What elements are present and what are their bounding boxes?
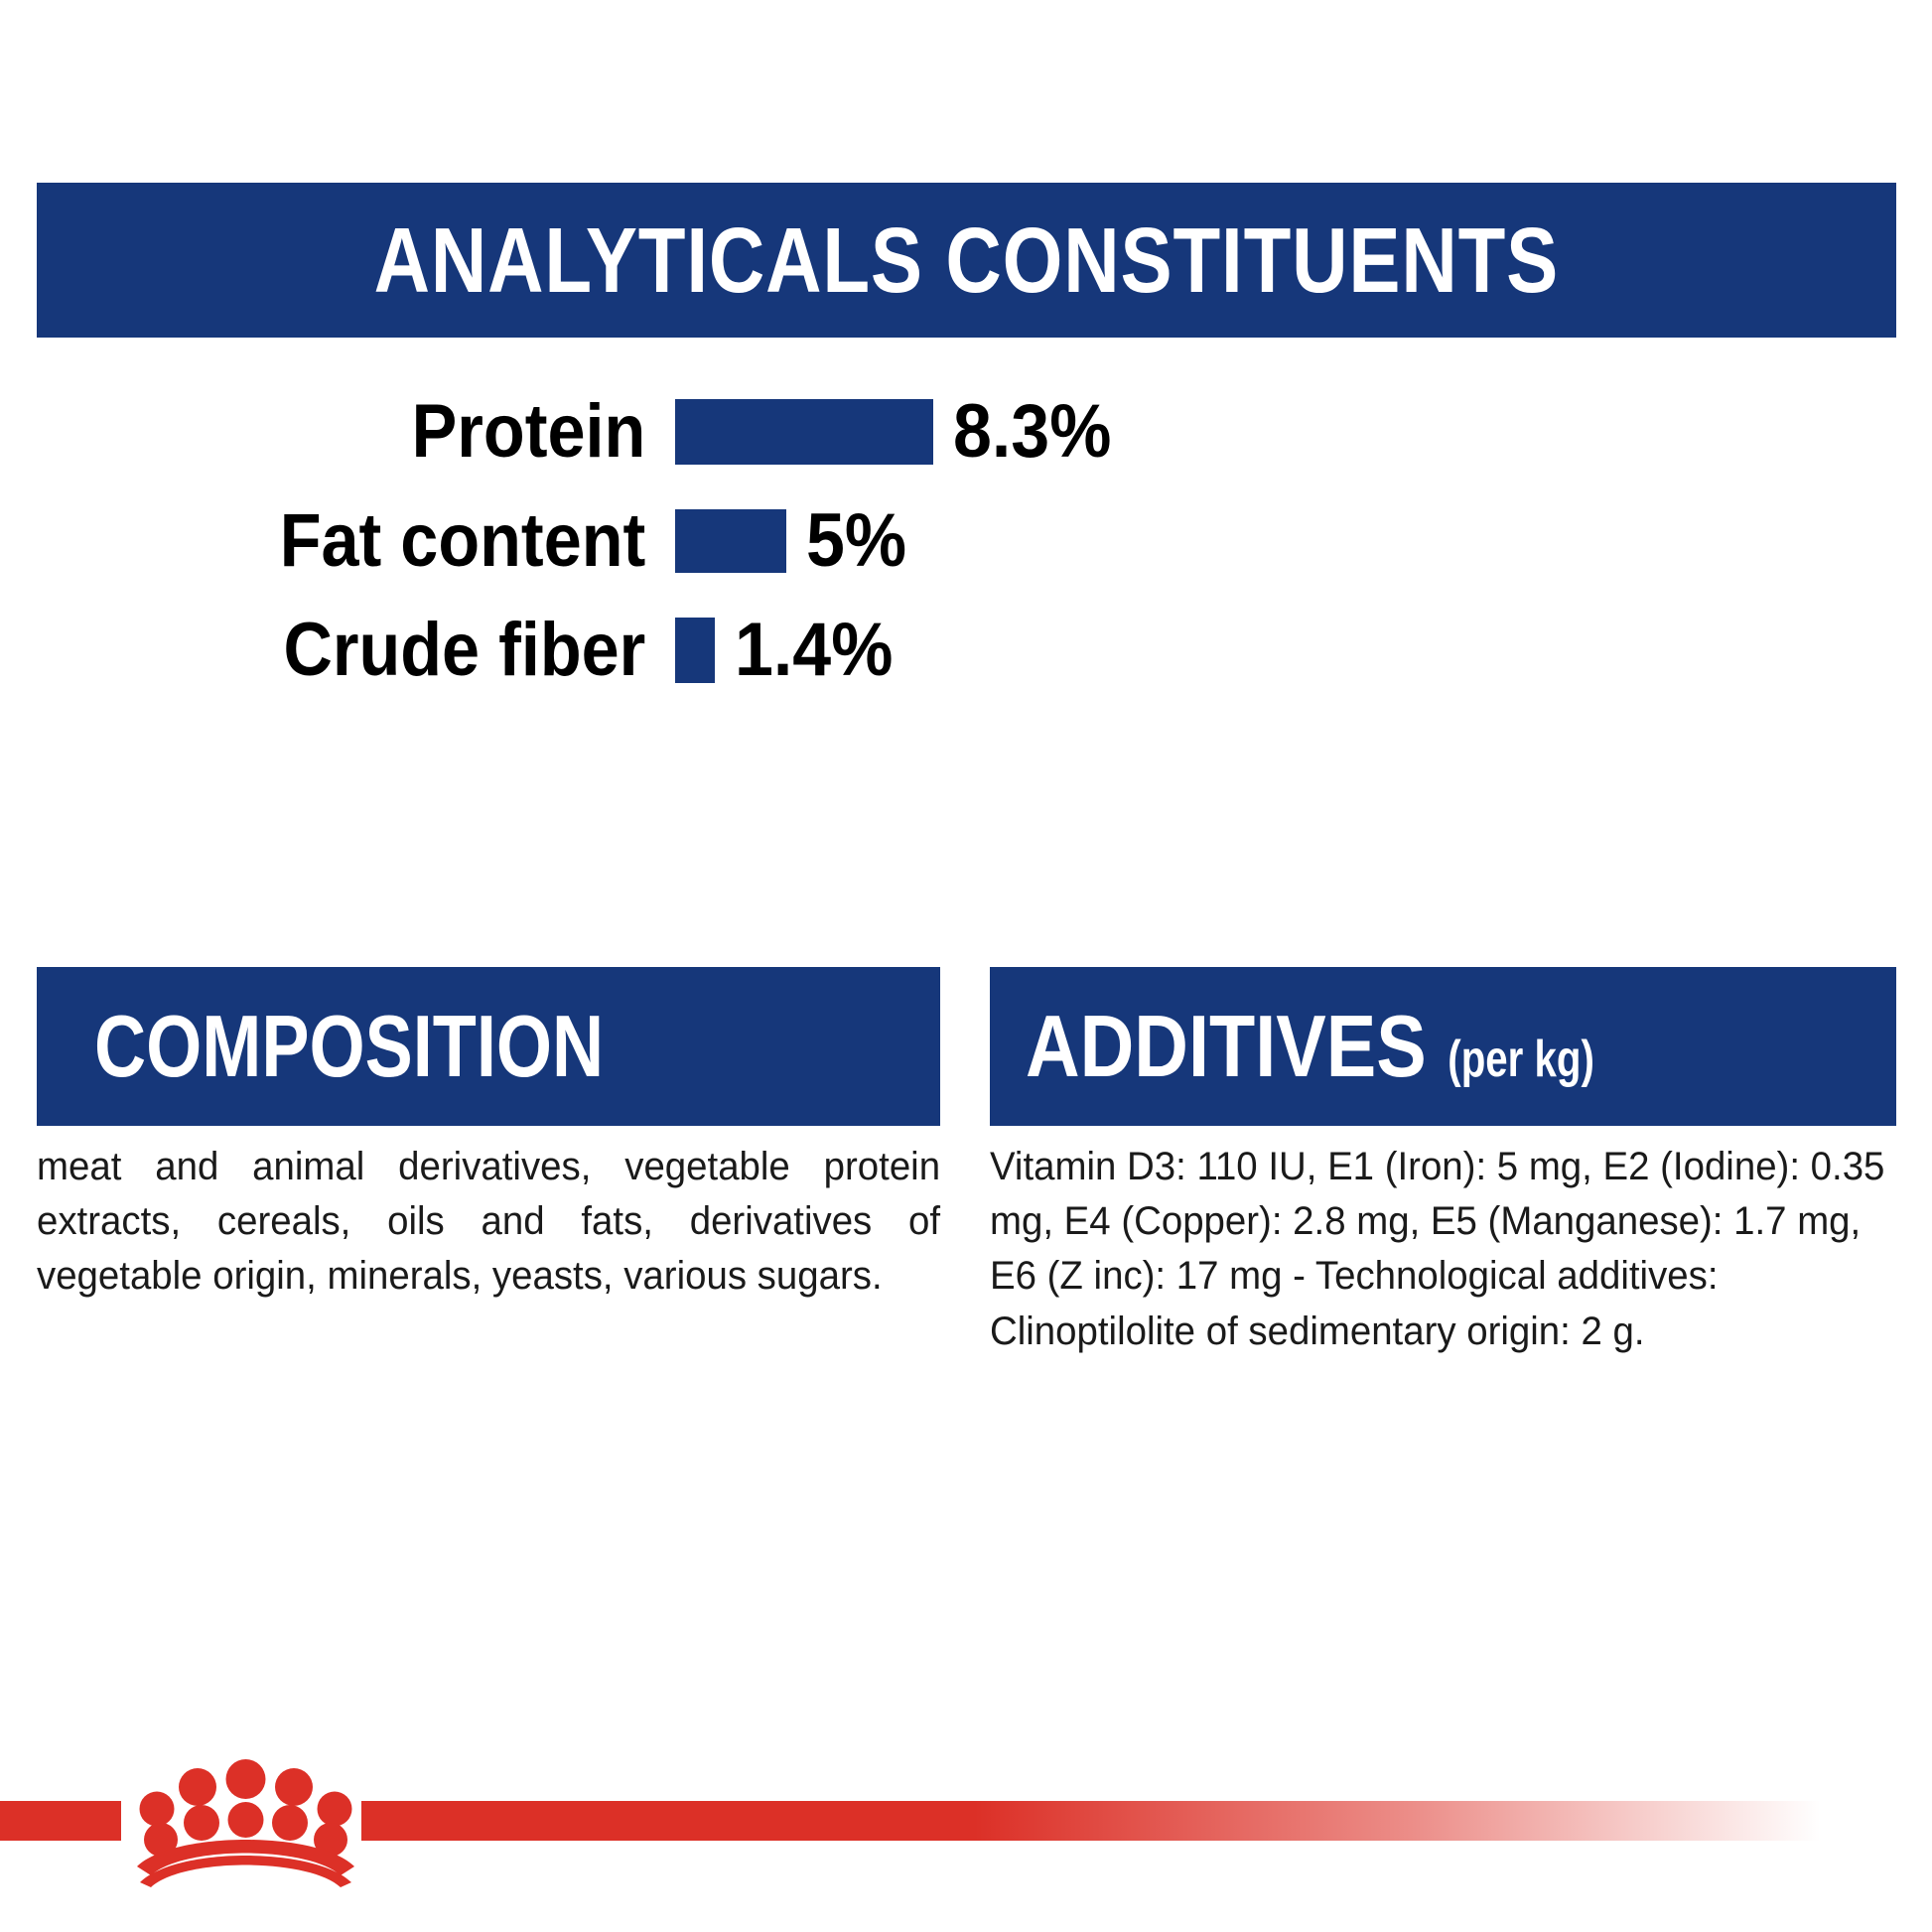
constituent-row-crude-fiber: Crude fiber 1.4%	[0, 606, 1932, 695]
composition-header: COMPOSITION	[37, 967, 940, 1126]
constituent-value-crude-fiber: 1.4%	[735, 613, 893, 688]
additives-subtitle-per-kg: (per kg)	[1449, 1034, 1595, 1085]
royal-canin-crown-logo	[124, 1757, 367, 1888]
additives-title: ADDITIVES	[1026, 1003, 1427, 1090]
constituent-row-protein: Protein 8.3%	[0, 387, 1932, 477]
constituent-bar-crude-fiber	[675, 618, 715, 683]
additives-body-text: Vitamin D3: 110 IU, E1 (Iron): 5 mg, E2 …	[990, 1140, 1895, 1359]
footer	[0, 1787, 1932, 1932]
composition-body-text: meat and animal derivatives, vegetable p…	[37, 1140, 940, 1305]
footer-rule-left	[0, 1801, 121, 1841]
constituent-value-protein: 8.3%	[953, 394, 1111, 470]
constituent-bar-fat-content	[675, 509, 786, 573]
constituent-row-fat-content: Fat content 5%	[0, 496, 1932, 586]
constituent-bar-protein	[675, 399, 933, 465]
additives-header: ADDITIVES (per kg)	[990, 967, 1896, 1126]
constituent-label-protein: Protein	[68, 394, 675, 470]
constituent-value-fat-content: 5%	[806, 503, 906, 579]
constituent-label-crude-fiber: Crude fiber	[68, 613, 675, 688]
composition-title: COMPOSITION	[94, 1003, 604, 1090]
analyticals-constituents-chart: Protein 8.3% Fat content 5% Crude fiber …	[0, 387, 1932, 715]
constituent-label-fat-content: Fat content	[68, 503, 675, 579]
additives-header-inner: ADDITIVES (per kg)	[1026, 1003, 1602, 1090]
footer-rule-right	[361, 1801, 1821, 1841]
analyticals-constituents-header: ANALYTICALS CONSTITUENTS	[37, 183, 1896, 338]
analyticals-constituents-title: ANALYTICALS CONSTITUENTS	[374, 214, 1559, 307]
nutrition-panel-page: ANALYTICALS CONSTITUENTS Protein 8.3% Fa…	[0, 0, 1932, 1932]
